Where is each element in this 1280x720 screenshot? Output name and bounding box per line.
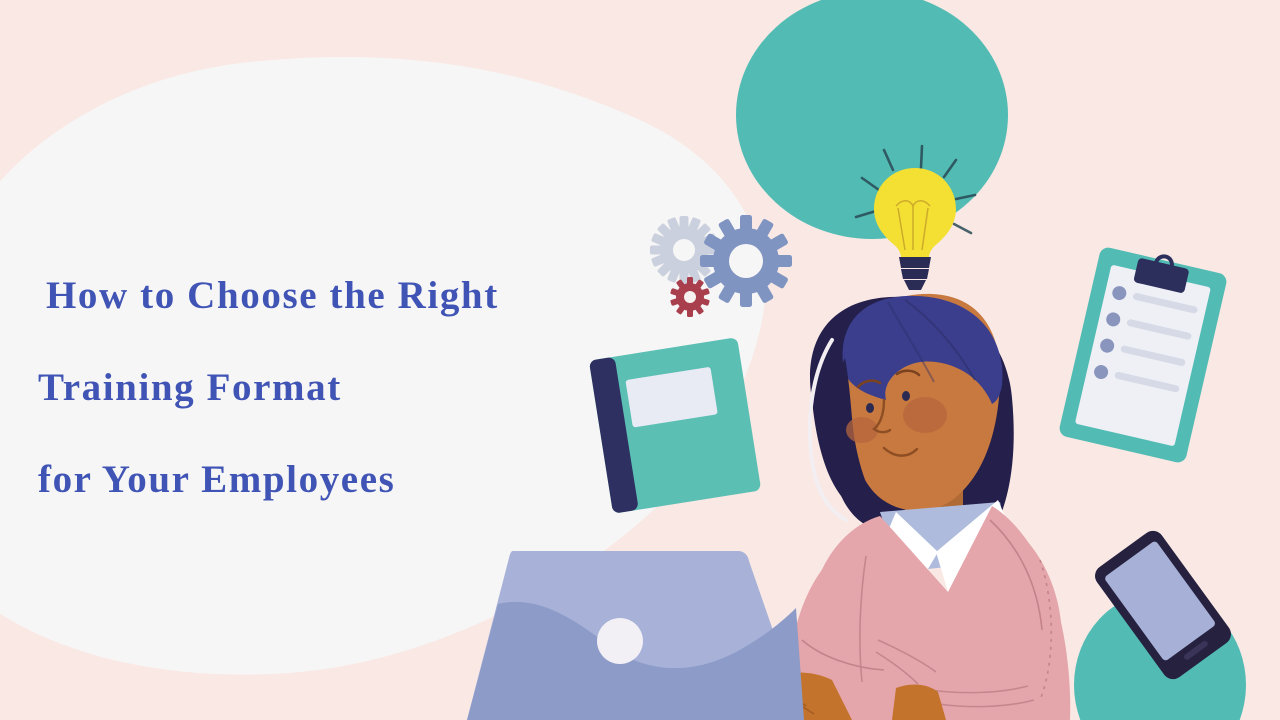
slide-canvas: How to Choose the Right Training Format … (0, 0, 1280, 720)
smartphone-layer (0, 0, 1280, 720)
smartphone-icon (1091, 526, 1236, 683)
